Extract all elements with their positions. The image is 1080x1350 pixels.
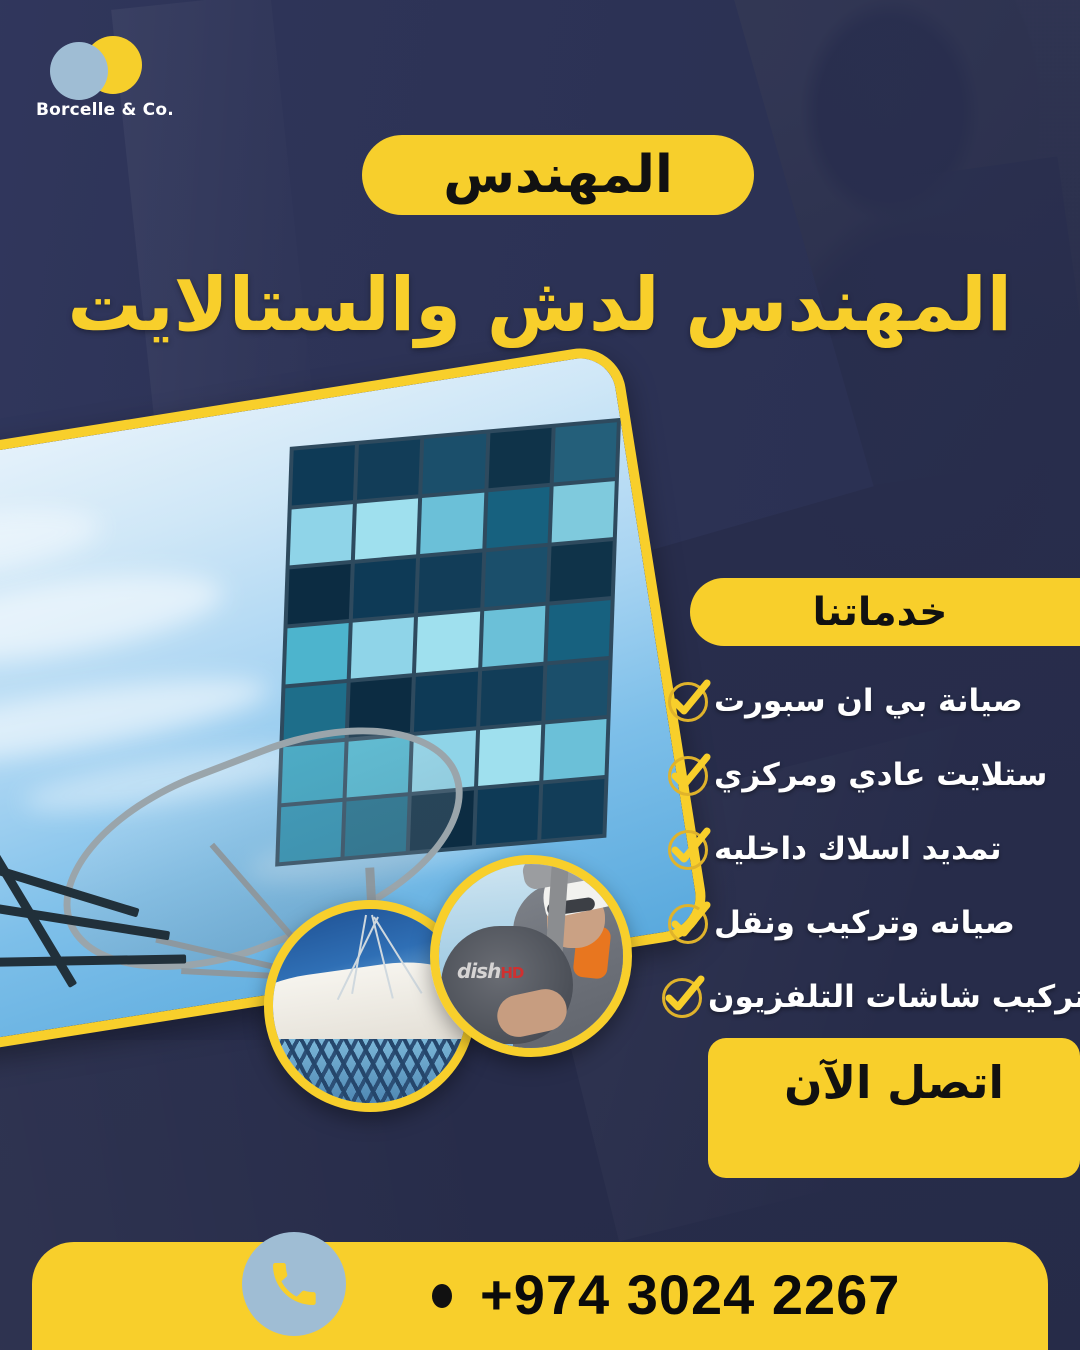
check-circle-icon	[666, 752, 712, 798]
tv-screen-cell	[478, 725, 541, 786]
tv-screen-cell	[482, 606, 545, 667]
tv-screen-cell	[476, 784, 539, 845]
check-circle-icon	[660, 974, 706, 1020]
tv-screen-cell	[545, 660, 608, 721]
service-label: ستلايت عادي ومركزي	[714, 757, 1047, 793]
title-badge: المهندس	[362, 135, 754, 215]
tv-screen-cell	[484, 547, 547, 608]
services-title-label: خدماتنا	[813, 590, 948, 635]
tv-screen-cell	[355, 499, 418, 560]
phone-handset-icon[interactable]	[242, 1232, 346, 1336]
tv-screen-cell	[418, 552, 481, 613]
service-item: صيانة بي ان سبورت	[660, 664, 1080, 738]
service-label: تمديد اسلاك داخليه	[714, 831, 1002, 867]
tv-screen-cell	[288, 564, 351, 625]
tv-screen-cell	[541, 779, 604, 840]
logo-circle-blue-icon	[50, 42, 108, 100]
dish-brand-label: dishHD	[457, 959, 523, 983]
service-item: ستلايت عادي ومركزي	[660, 738, 1080, 812]
check-circle-icon	[666, 900, 712, 946]
logo-mark	[36, 36, 156, 98]
phone-number[interactable]: +974 3024 2267	[480, 1262, 900, 1327]
tv-screen-cell	[423, 434, 486, 495]
services-title-bar: خدماتنا	[690, 578, 1080, 646]
tv-screen-cell	[357, 439, 420, 500]
brand-logo: Borcelle & Co.	[36, 36, 236, 120]
tv-screen-cell	[290, 504, 353, 565]
dish-support-truss	[273, 1039, 476, 1112]
tv-screen-cell	[547, 600, 610, 661]
tv-screen-cell	[551, 482, 614, 543]
check-circle-icon	[666, 826, 712, 872]
tv-screen-cell	[549, 541, 612, 602]
tv-screen-cell	[351, 618, 414, 679]
call-now-button[interactable]: اتصل الآن	[708, 1038, 1080, 1178]
truss-bar	[0, 954, 186, 969]
call-now-label: اتصل الآن	[784, 1056, 1004, 1109]
service-label: تركيب شاشات التلفزيون	[708, 979, 1080, 1015]
check-circle-icon	[666, 678, 712, 724]
tv-screen-cell	[416, 612, 479, 673]
service-item: تركيب شاشات التلفزيون	[660, 960, 1080, 1034]
contact-footer-bar: +974 3024 2267	[32, 1242, 1048, 1350]
tv-screen-cell	[353, 558, 416, 619]
tv-screen-cell	[486, 487, 549, 548]
tv-screen-cell	[488, 428, 551, 489]
page-headline: المهندس لدش والستالايت	[0, 262, 1012, 349]
services-list: صيانة بي ان سبورت ستلايت عادي ومركزي تمد…	[660, 664, 1080, 1034]
service-item: صيانه وتركيب ونقل	[660, 886, 1080, 960]
service-item: تمديد اسلاك داخليه	[660, 812, 1080, 886]
circle-photo-technician: dishHD	[430, 855, 632, 1057]
tv-screen-cell	[554, 422, 617, 483]
tv-screen-cell	[421, 493, 484, 554]
tv-screen-cell	[286, 623, 349, 684]
tv-screen-cell	[480, 665, 543, 726]
tv-screen-cell	[292, 445, 355, 506]
service-label: صيانة بي ان سبورت	[714, 683, 1023, 719]
title-badge-label: المهندس	[443, 149, 673, 201]
poster-canvas: Borcelle & Co. المهندس المهندس لدش والست…	[0, 0, 1080, 1350]
logo-text: Borcelle & Co.	[36, 100, 236, 120]
bullet-dot-icon	[432, 1284, 452, 1308]
tv-screen-cell	[543, 719, 606, 780]
service-label: صيانه وتركيب ونقل	[714, 905, 1015, 941]
